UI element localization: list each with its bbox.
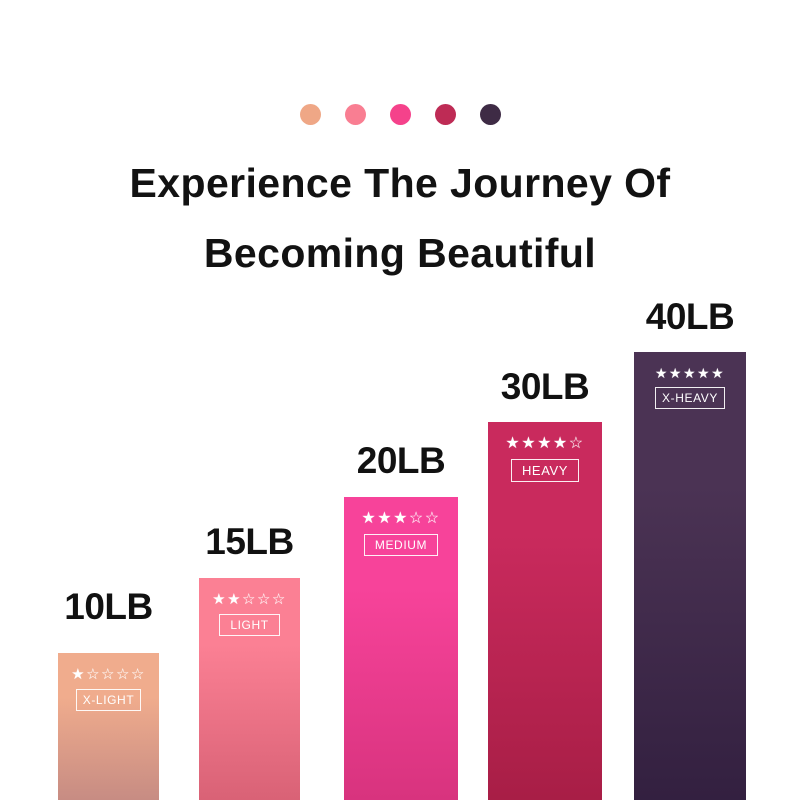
bar-content: ★☆☆☆☆X-LIGHT <box>58 667 159 711</box>
star-rating-icon: ★☆☆☆☆ <box>71 667 146 682</box>
tier-badge: LIGHT <box>219 614 279 636</box>
resistance-band-bar-chart: 10LB★☆☆☆☆X-LIGHT15LB★★☆☆☆LIGHT20LB★★★☆☆M… <box>0 0 800 800</box>
bar-value-label: 20LB <box>357 442 445 479</box>
tier-badge: MEDIUM <box>364 534 438 556</box>
star-rating-icon: ★★★★★ <box>655 366 725 380</box>
bar-group-heavy[interactable]: 30LB★★★★☆HEAVY <box>488 368 602 800</box>
bar-x-heavy[interactable]: ★★★★★X-HEAVY <box>634 352 746 800</box>
bar-group-x-heavy[interactable]: 40LB★★★★★X-HEAVY <box>634 298 746 800</box>
bar-group-x-light[interactable]: 10LB★☆☆☆☆X-LIGHT <box>58 588 159 800</box>
tier-badge: X-LIGHT <box>76 689 142 711</box>
bar-value-label: 10LB <box>64 588 152 625</box>
star-rating-icon: ★★☆☆☆ <box>212 592 287 607</box>
star-rating-icon: ★★★☆☆ <box>361 511 440 527</box>
tier-badge: HEAVY <box>511 459 579 482</box>
bar-medium[interactable]: ★★★☆☆MEDIUM <box>344 497 458 800</box>
bar-content: ★★★★☆HEAVY <box>488 436 602 482</box>
bar-value-label: 30LB <box>501 368 589 405</box>
bar-value-label: 15LB <box>205 523 293 560</box>
bar-light[interactable]: ★★☆☆☆LIGHT <box>199 578 300 800</box>
star-rating-icon: ★★★★☆ <box>505 436 584 452</box>
bar-content: ★★☆☆☆LIGHT <box>199 592 300 636</box>
bar-group-light[interactable]: 15LB★★☆☆☆LIGHT <box>199 523 300 800</box>
bar-content: ★★★☆☆MEDIUM <box>344 511 458 556</box>
bar-x-light[interactable]: ★☆☆☆☆X-LIGHT <box>58 653 159 800</box>
bar-value-label: 40LB <box>646 298 734 335</box>
bar-heavy[interactable]: ★★★★☆HEAVY <box>488 422 602 800</box>
bar-content: ★★★★★X-HEAVY <box>634 366 746 409</box>
bar-group-medium[interactable]: 20LB★★★☆☆MEDIUM <box>344 442 458 800</box>
tier-badge: X-HEAVY <box>655 387 725 409</box>
